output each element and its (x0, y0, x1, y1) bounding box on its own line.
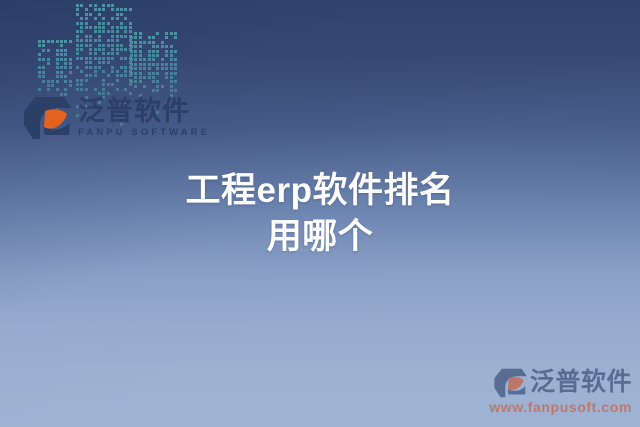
watermark-chinese-name: 泛普软件 (530, 370, 632, 395)
watermark-url: www.fanpusoft.com (467, 400, 632, 415)
logo-chinese-name: 泛普软件 (78, 98, 210, 126)
promo-banner: 泛普软件 FANPU SOFTWARE 工程erp软件排名 用哪个 泛普软件 w… (0, 0, 640, 427)
pixel-building (38, 40, 64, 92)
logo-english-name: FANPU SOFTWARE (78, 127, 210, 138)
page-title: 工程erp软件排名 用哪个 (0, 168, 640, 260)
pixel-building (130, 32, 164, 92)
page-title-line-2: 用哪个 (0, 214, 640, 260)
fanpu-watermark: 泛普软件 www.fanpusoft.com (467, 368, 632, 415)
fanpu-hexagon-swoosh-icon (22, 96, 72, 140)
fanpu-software-logo: 泛普软件 FANPU SOFTWARE (22, 94, 210, 142)
watermark-hexagon-swoosh-icon (493, 368, 527, 398)
pixel-building (76, 4, 118, 92)
watermark-logo-row: 泛普软件 (467, 368, 632, 398)
page-title-line-1: 工程erp软件排名 (0, 168, 640, 214)
logo-text-block: 泛普软件 FANPU SOFTWARE (78, 98, 210, 138)
pixel-cityscape-decoration (38, 0, 168, 92)
